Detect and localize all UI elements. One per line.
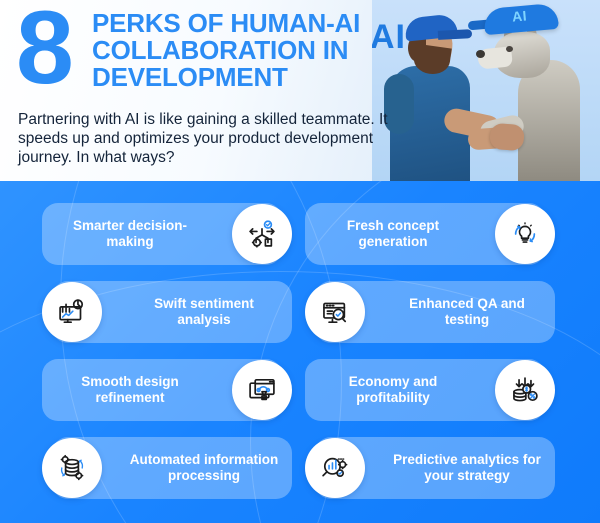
perk-card[interactable]: Automated information processing — [42, 437, 292, 499]
perk-card[interactable]: Fresh concept generation — [305, 203, 555, 265]
wolf-cap-label: AI — [511, 7, 527, 24]
coins-growth-icon — [495, 360, 555, 420]
design-pen-tool-icon — [232, 360, 292, 420]
wolf-eye — [506, 46, 513, 52]
page-subtitle: Partnering with AI is like gaining a ski… — [18, 110, 388, 167]
perks-grid: Smarter decision-making Fresh concept ge… — [0, 181, 600, 523]
perk-label: Smooth design refinement — [54, 359, 206, 421]
perk-card[interactable]: Enhanced QA and testing — [305, 281, 555, 343]
database-gears-icon — [42, 438, 102, 498]
analytics-magnifier-icon — [305, 438, 365, 498]
perk-label: Swift sentiment analysis — [128, 281, 280, 343]
hero-illustration: AI AI — [372, 0, 600, 181]
wolf-body-highlight — [518, 60, 580, 181]
wolf-nose — [476, 50, 485, 58]
perk-label: Enhanced QA and testing — [391, 281, 543, 343]
perk-card[interactable]: Predictive analytics for your strategy — [305, 437, 555, 499]
monitor-magnifier-icon — [305, 282, 365, 342]
perk-label: Automated information processing — [128, 437, 280, 499]
man-cap-brim — [438, 29, 472, 40]
perk-label: Smarter decision-making — [54, 203, 206, 265]
perk-card[interactable]: Smarter decision-making — [42, 203, 292, 265]
perk-label: Fresh concept generation — [317, 203, 469, 265]
header-section: AI AI 8 PERKS OF HUMAN-AI COLLABORATION … — [0, 0, 600, 181]
handshake — [489, 123, 525, 151]
chart-monitor-icon — [42, 282, 102, 342]
perk-count-number: 8 — [16, 0, 71, 100]
lightbulb-refresh-icon — [495, 204, 555, 264]
perk-card[interactable]: Economy and profitability — [305, 359, 555, 421]
perk-label: Economy and profitability — [317, 359, 469, 421]
perk-card[interactable]: Swift sentiment analysis — [42, 281, 292, 343]
perk-card[interactable]: Smooth design refinement — [42, 359, 292, 421]
infographic-poster: AI AI 8 PERKS OF HUMAN-AI COLLABORATION … — [0, 0, 600, 523]
perk-label: Predictive analytics for your strategy — [391, 437, 543, 499]
page-title: PERKS OF HUMAN-AI COLLABORATION IN DEVEL… — [92, 10, 392, 91]
decision-flow-icon — [232, 204, 292, 264]
